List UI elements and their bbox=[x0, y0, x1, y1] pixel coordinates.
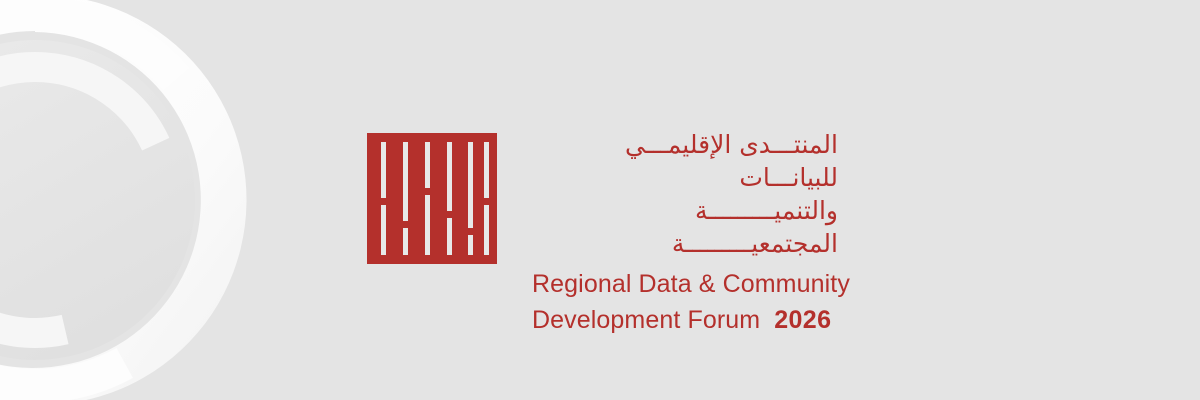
logo-stripe bbox=[381, 205, 386, 255]
latin-title: Regional Data & Community Development Fo… bbox=[532, 267, 838, 338]
latin-title-line-2: Development Forum bbox=[532, 306, 760, 334]
arabic-title-line-1: المنتـــدى الإقليمـــي للبيانـــات bbox=[532, 128, 838, 194]
logo-stripe bbox=[447, 218, 452, 255]
striped-square-logo-mark bbox=[367, 133, 497, 264]
logo-stripe bbox=[484, 205, 489, 255]
inner-ring-arc bbox=[0, 58, 177, 342]
logo-stripe bbox=[403, 228, 408, 255]
logo-stripe bbox=[381, 142, 386, 198]
latin-title-line-1: Regional Data & Community bbox=[532, 267, 838, 303]
arabic-title: المنتـــدى الإقليمـــي للبيانـــات والتن… bbox=[532, 128, 838, 260]
logo-stripe bbox=[447, 142, 452, 211]
logo-stripe bbox=[484, 142, 489, 198]
event-banner: المنتـــدى الإقليمـــي للبيانـــات والتن… bbox=[0, 0, 1200, 400]
arabic-title-line-2: والتنميـــــــــة المجتمعيـــــــــة bbox=[532, 194, 838, 260]
logo-lockup: المنتـــدى الإقليمـــي للبيانـــات والتن… bbox=[367, 128, 838, 338]
event-year: 2026 bbox=[774, 306, 831, 334]
logo-stripe bbox=[425, 195, 430, 255]
logo-stripe bbox=[468, 235, 473, 255]
logo-stripe bbox=[425, 142, 430, 188]
logo-stripe bbox=[468, 142, 473, 228]
outer-ring-arc bbox=[0, 0, 247, 400]
logo-stripe bbox=[403, 142, 408, 221]
wordmark: المنتـــدى الإقليمـــي للبيانـــات والتن… bbox=[532, 128, 838, 338]
latin-title-line-2-row: Development Forum2026 bbox=[532, 303, 838, 339]
inner-disc bbox=[0, 40, 195, 360]
